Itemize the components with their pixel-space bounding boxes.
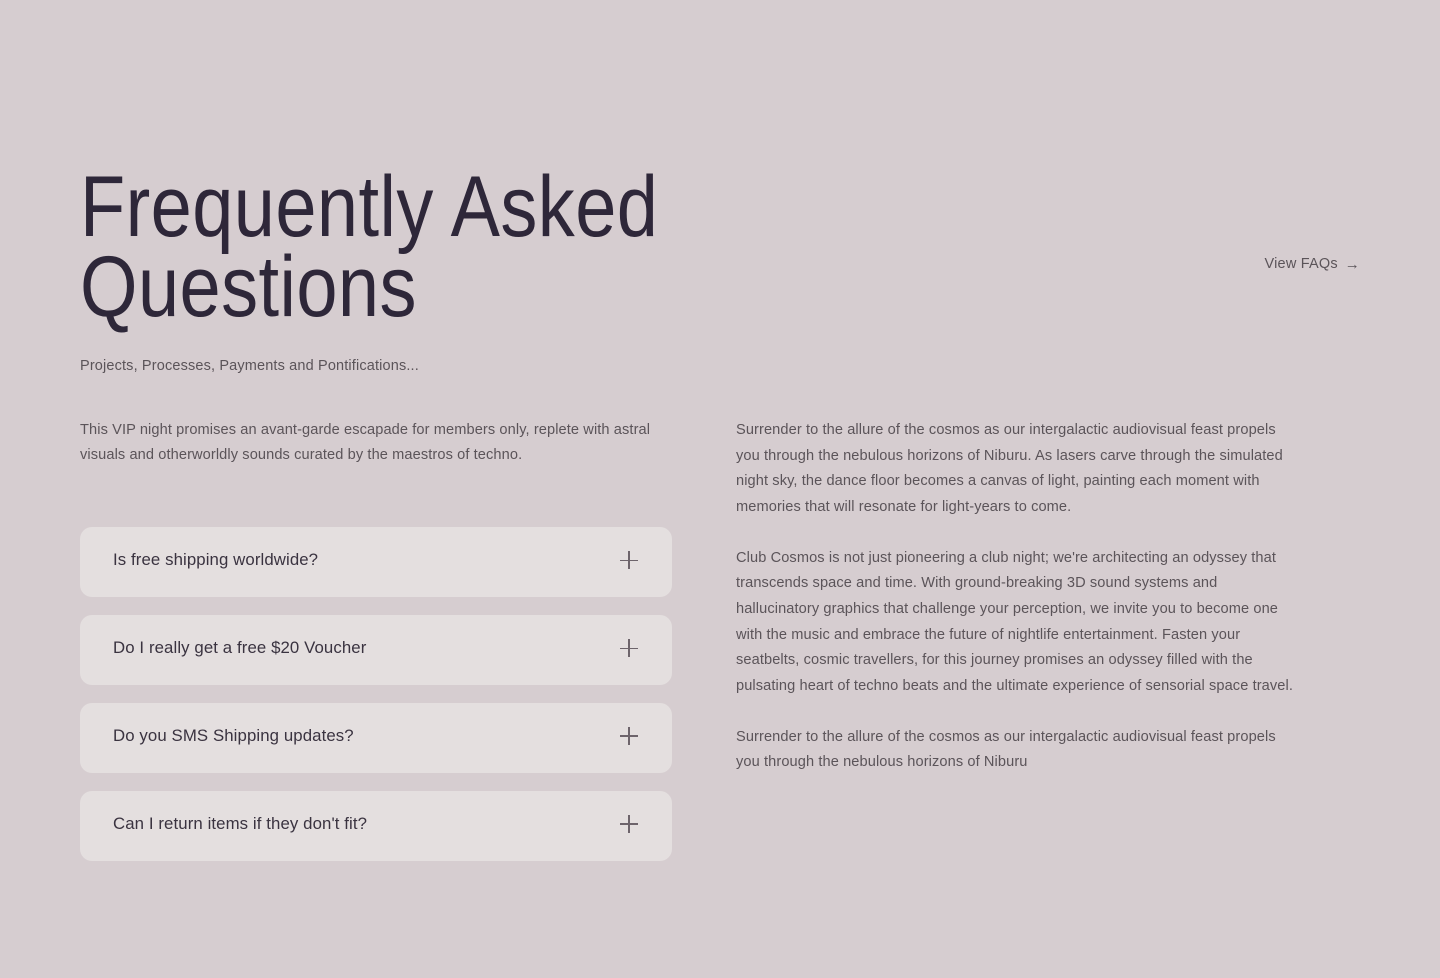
body-paragraph: Surrender to the allure of the cosmos as… [736, 418, 1298, 521]
accordion-question: Can I return items if they don't fit? [113, 813, 367, 835]
faq-page: Frequently Asked Questions Projects, Pro… [0, 0, 1440, 978]
body-paragraph: Surrender to the allure of the cosmos as… [736, 725, 1298, 776]
accordion-item[interactable]: Do you SMS Shipping updates? [80, 703, 672, 773]
faq-accordion: Is free shipping worldwide? Do I really … [80, 527, 672, 860]
plus-icon[interactable] [620, 815, 638, 833]
page-subtitle: Projects, Processes, Payments and Pontif… [80, 358, 419, 374]
accordion-item[interactable]: Can I return items if they don't fit? [80, 791, 672, 861]
accordion-question: Do I really get a free $20 Voucher [113, 637, 366, 659]
plus-icon[interactable] [620, 551, 638, 569]
accordion-item[interactable]: Is free shipping worldwide? [80, 527, 672, 597]
accordion-question: Do you SMS Shipping updates? [113, 725, 354, 747]
accordion-question: Is free shipping worldwide? [113, 549, 318, 571]
page-title: Frequently Asked Questions [80, 168, 682, 328]
page-header: Frequently Asked Questions Projects, Pro… [80, 168, 1360, 328]
accordion-item[interactable]: Do I really get a free $20 Voucher [80, 615, 672, 685]
accordion-header[interactable]: Do I really get a free $20 Voucher [80, 615, 672, 685]
intro-paragraph: This VIP night promises an avant-garde e… [80, 418, 672, 468]
accordion-header[interactable]: Is free shipping worldwide? [80, 527, 672, 597]
arrow-right-icon: → [1345, 257, 1360, 272]
accordion-header[interactable]: Can I return items if they don't fit? [80, 791, 672, 861]
body-paragraph: Club Cosmos is not just pioneering a clu… [736, 546, 1298, 700]
view-faqs-label: View FAQs [1265, 256, 1338, 272]
left-column: This VIP night promises an avant-garde e… [80, 418, 672, 861]
right-column: Surrender to the allure of the cosmos as… [736, 418, 1298, 861]
plus-icon[interactable] [620, 727, 638, 745]
accordion-header[interactable]: Do you SMS Shipping updates? [80, 703, 672, 773]
plus-icon[interactable] [620, 639, 638, 657]
content-columns: This VIP night promises an avant-garde e… [80, 418, 1360, 861]
view-faqs-link[interactable]: View FAQs → [1265, 256, 1360, 272]
